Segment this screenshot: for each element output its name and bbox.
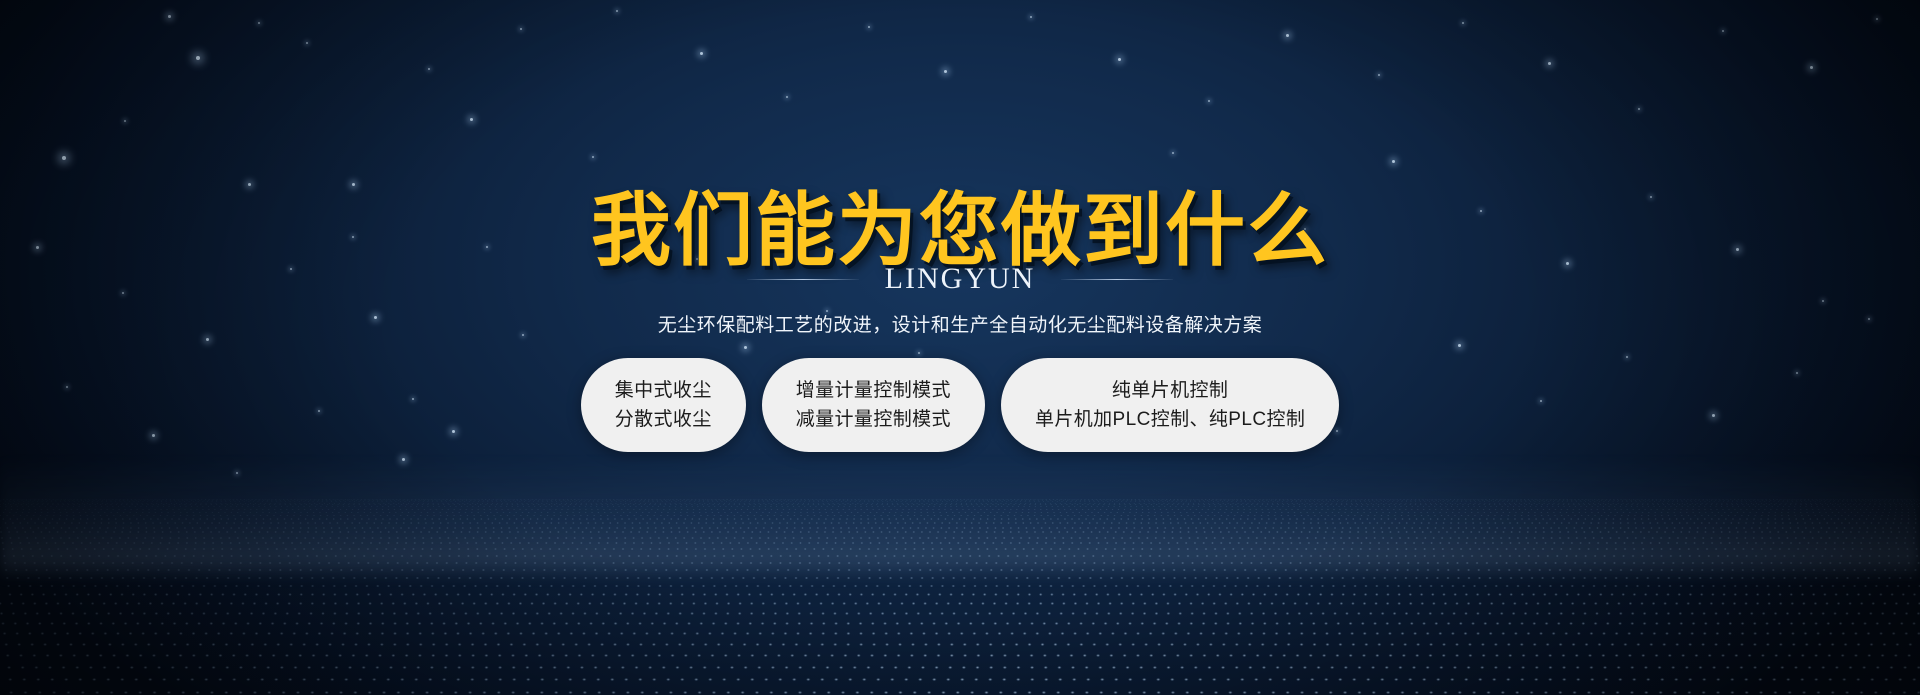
mesh-row: [0, 537, 1920, 539]
star-icon: [402, 458, 405, 461]
star-icon: [1458, 344, 1461, 347]
star-icon: [616, 10, 618, 12]
star-icon: [248, 183, 251, 186]
star-icon: [592, 156, 594, 158]
mesh-row: [0, 569, 1920, 571]
mesh-row: [0, 678, 1920, 681]
star-icon: [62, 156, 66, 160]
divider-left-line: [747, 279, 859, 280]
star-icon: [306, 42, 308, 44]
feature-pill-group: 集中式收尘 分散式收尘 增量计量控制模式 减量计量控制模式 纯单片机控制 单片机…: [0, 358, 1920, 452]
mesh-row: [0, 500, 1920, 501]
star-icon: [428, 68, 430, 70]
star-icon: [236, 472, 238, 474]
mesh-row: [0, 527, 1920, 529]
star-icon: [1810, 66, 1813, 69]
mesh-row: [0, 503, 1920, 504]
star-icon: [944, 70, 947, 73]
mesh-row: [0, 577, 1920, 579]
star-icon: [124, 120, 126, 122]
star-icon: [206, 338, 209, 341]
mesh-row: [0, 654, 1920, 657]
horizon-haze: [0, 457, 1920, 577]
mesh-row: [0, 585, 1920, 587]
star-icon: [1722, 30, 1724, 32]
mesh-row: [0, 562, 1920, 564]
star-icon: [918, 352, 920, 354]
mesh-row: [0, 542, 1920, 544]
feature-pill-dust-collection[interactable]: 集中式收尘 分散式收尘: [581, 358, 746, 452]
mesh-row: [0, 593, 1920, 596]
star-icon: [470, 118, 473, 121]
mesh-row: [0, 632, 1920, 635]
mesh-row: [0, 666, 1920, 669]
mesh-row: [0, 602, 1920, 605]
dot-mesh-wave: [0, 499, 1920, 695]
mesh-row: [0, 691, 1920, 694]
star-icon: [352, 183, 355, 186]
star-icon: [196, 56, 200, 60]
pill-line: 减量计量控制模式: [796, 409, 951, 431]
star-icon: [1876, 18, 1878, 20]
star-icon: [1286, 34, 1289, 37]
star-icon: [786, 96, 788, 98]
mesh-row: [0, 499, 1920, 500]
pill-line: 增量计量控制模式: [796, 380, 951, 402]
star-icon: [744, 346, 747, 349]
star-icon: [520, 28, 522, 30]
star-icon: [1172, 152, 1174, 154]
star-icon: [1030, 16, 1032, 18]
pill-line: 单片机加PLC控制、纯PLC控制: [1035, 409, 1305, 431]
mesh-row: [0, 622, 1920, 625]
star-icon: [1822, 300, 1824, 302]
mesh-row: [0, 522, 1920, 524]
mesh-row: [0, 506, 1920, 507]
brand-subtitle-row: LINGYUN: [0, 262, 1920, 296]
mesh-row: [0, 555, 1920, 557]
vignette-overlay: [0, 0, 1920, 695]
star-icon: [168, 15, 171, 18]
mesh-row: [0, 504, 1920, 505]
star-icon: [1462, 22, 1464, 24]
mesh-row: [0, 518, 1920, 520]
star-icon: [1638, 108, 1640, 110]
mesh-row: [0, 531, 1920, 533]
star-icon: [868, 26, 870, 28]
mesh-row: [0, 612, 1920, 615]
star-icon: [1548, 62, 1551, 65]
mesh-row: [0, 499, 1920, 500]
mesh-row: [0, 515, 1920, 517]
brand-latin-name: LINGYUN: [885, 262, 1036, 296]
star-field: [0, 0, 1920, 695]
star-icon: [1118, 58, 1121, 61]
pill-line: 纯单片机控制: [1112, 380, 1228, 402]
star-icon: [1208, 100, 1210, 102]
star-icon: [1378, 74, 1380, 76]
mesh-row: [0, 512, 1920, 514]
mesh-row: [0, 509, 1920, 511]
feature-pill-metering-control-mode[interactable]: 增量计量控制模式 减量计量控制模式: [762, 358, 985, 452]
mesh-row: [0, 499, 1920, 500]
mesh-row: [0, 548, 1920, 550]
mesh-row: [0, 643, 1920, 646]
pill-line: 分散式收尘: [615, 409, 712, 431]
feature-pill-controller-type[interactable]: 纯单片机控制 单片机加PLC控制、纯PLC控制: [1001, 358, 1339, 452]
mesh-row: [0, 501, 1920, 502]
pill-line: 集中式收尘: [615, 380, 712, 402]
star-icon: [258, 22, 260, 24]
star-icon: [1392, 160, 1395, 163]
banner-description: 无尘环保配料工艺的改进，设计和生产全自动化无尘配料设备解决方案: [0, 310, 1920, 337]
star-icon: [700, 52, 703, 55]
hero-banner: 我们能为您做到什么 LINGYUN 无尘环保配料工艺的改进，设计和生产全自动化无…: [0, 0, 1920, 695]
divider-right-line: [1061, 279, 1173, 280]
